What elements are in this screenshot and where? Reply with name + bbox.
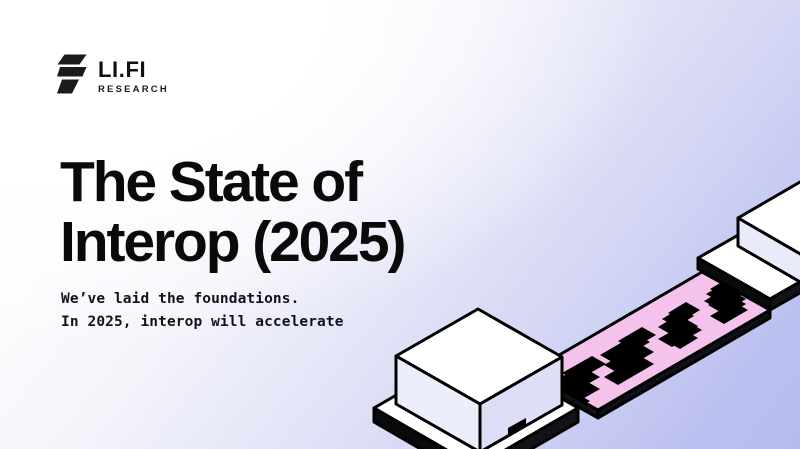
page-title: The State of Interop (2025): [60, 152, 530, 273]
logo-subtext: RESEARCH: [98, 84, 169, 95]
page-subtitle-line-2: In 2025, interop will accelerate: [61, 311, 344, 334]
logo-wordmark: LI.FI: [98, 58, 169, 81]
hero-banner: LI.FI RESEARCH The State of Interop (202…: [0, 0, 800, 449]
page-subtitle: We’ve laid the foundations. In 2025, int…: [61, 288, 344, 335]
lifi-logo-mark-icon: [57, 54, 87, 99]
page-title-line-1: The State of: [60, 152, 530, 212]
brand-logo[interactable]: LI.FI RESEARCH: [57, 54, 169, 99]
logo-text-block: LI.FI RESEARCH: [98, 58, 169, 95]
page-title-line-2: Interop (2025): [60, 212, 530, 272]
page-subtitle-line-1: We’ve laid the foundations.: [61, 288, 344, 311]
